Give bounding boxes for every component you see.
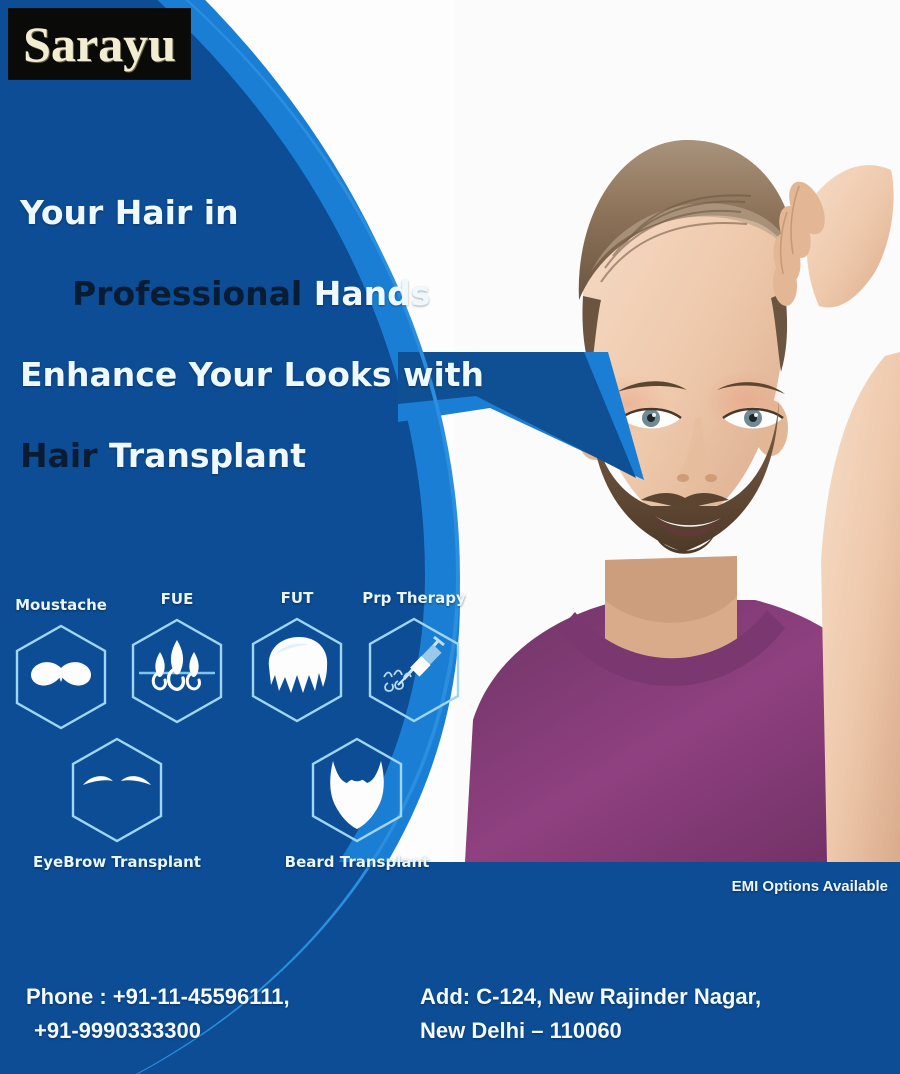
headline-line-4-emphasis: Hair (20, 436, 97, 475)
headline-line-3-text: Enhance Your Looks with (20, 355, 484, 394)
advertisement-poster: Sarayu Your Hair in Professional Hands E… (0, 0, 900, 1074)
emi-badge: EMI Options Available (732, 878, 888, 895)
hair-strip-icon (269, 637, 327, 693)
prp-hexagon (364, 615, 464, 725)
phone-line-2: +91-9990333300 (26, 1014, 290, 1048)
address-line-2: New Delhi – 110060 (420, 1014, 761, 1048)
services-list: Moustache FUE (0, 590, 500, 860)
phone-line-1: Phone : +91-11-45596111, (26, 980, 290, 1014)
phone-block[interactable]: Phone : +91-11-45596111, +91-9990333300 (26, 980, 290, 1048)
service-item-beard-transplant[interactable]: Beard Transplant (307, 735, 407, 845)
headline-line-1-text: Your Hair in (20, 193, 239, 232)
service-label-prp-therapy: Prp Therapy (324, 589, 504, 607)
moustache-hexagon (11, 622, 111, 732)
syringe-icon (384, 637, 444, 691)
headline-line-2: Professional Hands (20, 277, 490, 310)
moustache-icon (31, 662, 91, 685)
service-label-eyebrow-transplant: EyeBrow Transplant (27, 853, 207, 871)
fue-hexagon (127, 616, 227, 726)
address-block: Add: C-124, New Rajinder Nagar, New Delh… (420, 980, 761, 1048)
eyebrows-icon (83, 776, 151, 785)
headline-line-2-emphasis: Professional (72, 274, 302, 313)
headline-line-4: Hair Transplant (20, 439, 490, 472)
headline-block: Your Hair in Professional Hands Enhance … (20, 196, 490, 472)
headline-line-3: Enhance Your Looks with (20, 358, 490, 391)
service-item-fut[interactable]: FUT (247, 615, 347, 725)
service-item-eyebrow-transplant[interactable]: EyeBrow Transplant (67, 735, 167, 845)
brand-name: Sarayu (23, 19, 176, 69)
beard-hexagon (307, 735, 407, 845)
headline-line-4-text: Transplant (109, 436, 306, 475)
service-item-moustache[interactable]: Moustache (11, 622, 111, 732)
eyebrow-hexagon (67, 735, 167, 845)
fut-hexagon (247, 615, 347, 725)
headline-line-2-text: Hands (314, 274, 431, 313)
service-item-fue[interactable]: FUE (127, 616, 227, 726)
headline-line-1: Your Hair in (20, 196, 490, 229)
hair-follicle-icon (139, 640, 215, 689)
service-label-beard-transplant: Beard Transplant (267, 853, 447, 871)
service-item-prp-therapy[interactable]: Prp Therapy (364, 615, 464, 725)
address-line-1: Add: C-124, New Rajinder Nagar, (420, 980, 761, 1014)
beard-icon (330, 761, 384, 829)
brand-logo[interactable]: Sarayu (8, 8, 191, 80)
